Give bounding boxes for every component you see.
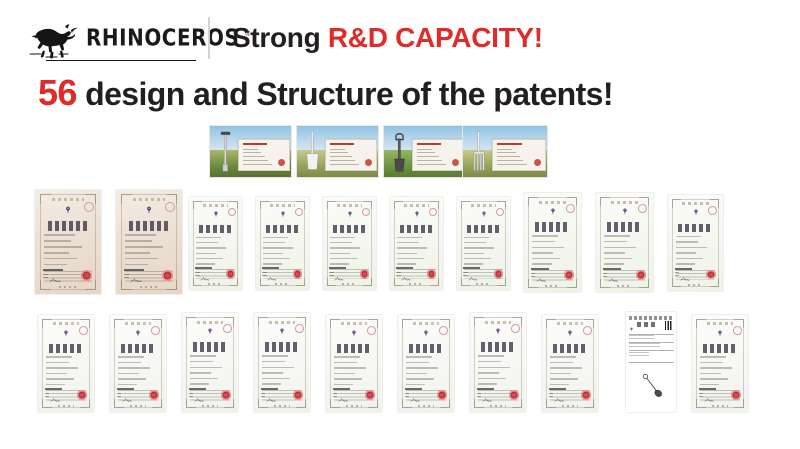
certificate-sign-label: [699, 393, 703, 399]
certificate-number-stamp: [733, 326, 742, 335]
certificate-body: [600, 197, 649, 288]
director-signature: [554, 391, 567, 399]
official-red-seal: [494, 269, 503, 278]
certificate-top-ornament: [269, 321, 296, 324]
director-signature: [122, 391, 135, 399]
certificate-top-ornament: [413, 322, 440, 325]
tool-d-handle-shovel-icon: [389, 130, 410, 174]
patent-office-emblem-icon: [495, 328, 501, 335]
certificate-number-stamp: [708, 206, 717, 215]
photo-certificate-card: [238, 139, 290, 171]
utility-model-patent-certificate-8[interactable]: [668, 195, 723, 291]
invention-patent-certificate-2[interactable]: [116, 190, 182, 294]
certificate-top-ornament: [52, 198, 84, 201]
design-patent-certificate-3[interactable]: [182, 313, 238, 412]
certificate-body: [672, 199, 719, 287]
certificate-sign-label: [261, 393, 265, 399]
official-red-seal: [427, 269, 436, 278]
barcode-icon: [665, 321, 673, 330]
director-signature: [334, 270, 346, 278]
director-signature: [130, 272, 145, 281]
patent-office-emblem-icon: [621, 208, 627, 215]
official-red-seal: [226, 269, 235, 278]
certificate-footer-rule: [262, 267, 278, 269]
certificate-title: [678, 224, 712, 233]
certificate-title: [121, 344, 156, 353]
certificate-body: [528, 197, 577, 288]
certificate-footer-rule: [124, 269, 144, 271]
official-red-seal: [360, 269, 369, 278]
certificate-footer-rule: [195, 267, 211, 269]
certificate-body: [546, 319, 594, 408]
header-divider: [208, 17, 210, 59]
certificate-bottom-ornament: [59, 286, 77, 288]
certificate-footer-rule: [603, 268, 621, 270]
official-red-seal: [293, 390, 303, 400]
certificate-footer-rule: [189, 388, 206, 390]
certificate-footer-rule: [45, 388, 62, 390]
certificate-title: [535, 222, 570, 231]
director-signature: [338, 391, 351, 399]
certificate-sign-label: [43, 274, 48, 281]
certificate-body: [461, 201, 507, 287]
certificate-bottom-ornament: [418, 405, 433, 407]
headline-primary-accent: R&D CAPACITY!: [328, 22, 543, 53]
photo-certificate-card: [492, 139, 546, 171]
certificate-body: [402, 319, 450, 408]
certificate-top-ornament: [203, 204, 229, 207]
patent-showcase-page: RHINOCEROS ® Strong R&D CAPACITY! 56 des…: [0, 0, 800, 449]
certificate-number-stamp: [429, 208, 437, 216]
certificate-body: [40, 194, 97, 290]
certificate-top-ornament: [53, 322, 80, 325]
certificate-title: [467, 225, 500, 234]
certificate-number-stamp: [165, 202, 175, 212]
certificate-sign-label: [195, 272, 199, 278]
certificate-top-ornament: [197, 321, 224, 324]
design-patent-certificate-7[interactable]: [470, 313, 526, 412]
certificate-title: [129, 221, 170, 231]
certificate-top-ornament: [682, 202, 708, 205]
certificate-bottom-ornament: [58, 405, 73, 407]
patent-office-emblem-icon: [279, 328, 285, 335]
certificate-bottom-ornament: [545, 285, 561, 287]
certificate-sign-label: [45, 393, 49, 399]
patent-office-emblem-icon: [64, 206, 71, 215]
certificate-body: [42, 319, 90, 408]
photo-garden-fork-certificate[interactable]: [462, 125, 548, 178]
certificate-footer-rule: [675, 268, 692, 270]
design-patent-certificate-1[interactable]: [38, 315, 94, 412]
certificate-number-stamp: [439, 326, 448, 335]
certificate-top-ornament: [557, 322, 584, 325]
director-signature: [266, 391, 279, 399]
official-red-seal: [731, 390, 741, 400]
certificate-bottom-ornament: [275, 283, 290, 285]
certificate-number-stamp: [638, 204, 647, 213]
certificate-bottom-ornament: [274, 405, 289, 407]
brand-logo: RHINOCEROS ®: [28, 17, 203, 61]
design-patent-certificate-8[interactable]: [542, 315, 598, 412]
certificate-sign-label: [262, 272, 266, 278]
patent-office-emblem-icon: [145, 206, 152, 215]
tool-post-hole-digger-icon: [215, 130, 236, 174]
certificate-body: [114, 319, 162, 408]
rhinoceros-logo-icon: [28, 19, 84, 59]
utility-model-patent-certificate-1[interactable]: [189, 197, 242, 290]
director-signature: [482, 391, 495, 399]
certificate-number-stamp: [295, 324, 304, 333]
official-red-seal: [437, 390, 447, 400]
certificate-title: [48, 221, 89, 231]
official-red-seal: [365, 390, 375, 400]
certificate-body: [186, 317, 234, 408]
design-patent-certificate-2[interactable]: [110, 315, 166, 412]
certificate-body: [193, 201, 239, 287]
patent-office-emblem-icon: [481, 211, 487, 218]
patent-office-emblem-icon: [63, 330, 69, 337]
certificate-bottom-ornament: [712, 405, 727, 407]
certificate-number-stamp: [84, 202, 94, 212]
certificate-number-stamp: [511, 324, 520, 333]
certificate-bottom-ornament: [208, 283, 223, 285]
certificate-title: [333, 225, 366, 234]
certificate-sign-label: [463, 272, 467, 278]
certificate-footer-rule: [531, 268, 549, 270]
director-signature: [608, 271, 621, 279]
certificate-number-stamp: [295, 208, 303, 216]
certificate-top-ornament: [539, 201, 566, 204]
utility-model-patent-certificate-3[interactable]: [323, 197, 376, 290]
certificate-title: [266, 225, 299, 234]
utility-model-patent-certificate-5[interactable]: [457, 197, 510, 290]
certificate-title: [703, 344, 738, 353]
official-red-seal: [77, 390, 87, 400]
certificate-number-stamp: [583, 326, 592, 335]
photo-certificate-card: [325, 139, 377, 171]
invention-patent-certificate-1[interactable]: [35, 190, 101, 294]
certificate-bottom-ornament: [617, 285, 633, 287]
certificate-title: [193, 342, 228, 351]
patent-office-emblem-icon: [351, 330, 357, 337]
design-patent-drawing-sheet[interactable]: [626, 312, 676, 412]
certificate-sign-label: [333, 393, 337, 399]
director-signature: [49, 272, 64, 281]
certificate-top-ornament: [611, 201, 638, 204]
design-patent-certificate-4[interactable]: [254, 313, 310, 412]
headline-secondary-text: design and Structure of the patents!: [77, 76, 613, 112]
certificate-title: [481, 342, 516, 351]
patent-office-emblem-icon: [280, 211, 286, 218]
headline-secondary: 56 design and Structure of the patents!: [38, 72, 613, 115]
certificate-footer-rule: [43, 269, 63, 271]
certificate-sign-label: [603, 273, 607, 279]
certificate-number-stamp: [79, 326, 88, 335]
design-patent-certificate-6[interactable]: [398, 315, 454, 412]
certificate-title: [265, 342, 300, 351]
director-signature: [200, 270, 212, 278]
design-drawing-shovel-icon: [641, 367, 663, 405]
patent-office-emblem-icon: [347, 211, 353, 218]
certificate-top-ornament: [337, 204, 363, 207]
brand-wordmark: RHINOCEROS ®: [86, 29, 250, 50]
official-red-seal: [706, 270, 715, 279]
certificate-number-stamp: [223, 324, 232, 333]
certificate-sign-label: [531, 273, 535, 279]
certificate-footer-rule: [477, 388, 494, 390]
page-header: RHINOCEROS ® Strong R&D CAPACITY!: [0, 0, 800, 68]
patent-office-emblem-icon: [135, 330, 141, 337]
utility-model-patent-certificate-7[interactable]: [596, 193, 653, 292]
patent-office-emblem-icon: [717, 330, 723, 337]
official-red-seal: [564, 270, 574, 280]
photo-post-hole-digger-certificate[interactable]: [209, 125, 292, 178]
director-signature: [401, 270, 413, 278]
certificate-sign-label: [189, 393, 193, 399]
certificate-top-ornament: [404, 204, 430, 207]
utility-model-patent-certificate-4[interactable]: [390, 197, 443, 290]
certificate-top-ornament: [125, 322, 152, 325]
certificate-title: [49, 344, 84, 353]
director-signature: [50, 391, 63, 399]
headline-primary: Strong R&D CAPACITY!: [232, 20, 543, 56]
certificate-title: [553, 344, 588, 353]
certificate-footer-rule: [463, 267, 479, 269]
official-red-seal: [636, 270, 646, 280]
official-red-seal: [293, 269, 302, 278]
official-red-seal: [221, 390, 231, 400]
certificate-bottom-ornament: [409, 283, 424, 285]
tool-garden-fork-icon: [468, 130, 490, 174]
certificate-sign-label: [675, 272, 679, 278]
patent-office-emblem-icon: [207, 328, 213, 335]
director-signature: [680, 270, 692, 278]
certificate-top-ornament: [707, 322, 734, 325]
certificate-top-ornament: [270, 204, 296, 207]
certificate-sign-label: [549, 393, 553, 399]
director-signature: [267, 270, 279, 278]
certificate-bottom-ornament: [476, 283, 491, 285]
certificate-footer-rule: [405, 388, 422, 390]
utility-model-patent-certificate-6[interactable]: [524, 193, 581, 292]
photo-d-handle-shovel-certificate[interactable]: [383, 125, 466, 178]
photo-certificate-card: [412, 139, 464, 171]
certificate-title: [199, 225, 232, 234]
certificate-bottom-ornament: [130, 405, 145, 407]
certificate-sign-label: [117, 393, 121, 399]
photo-spade-certificate[interactable]: [296, 125, 379, 178]
certificate-bottom-ornament: [490, 405, 505, 407]
certificate-bottom-ornament: [140, 286, 158, 288]
drawing-header-text: [629, 316, 674, 320]
director-signature: [704, 391, 717, 399]
certificate-sign-label: [477, 393, 481, 399]
director-signature: [194, 391, 207, 399]
certificate-footer-rule: [396, 267, 412, 269]
logo-underline-rule: [46, 60, 196, 61]
certificate-sign-label: [124, 274, 129, 281]
certificate-title: [400, 225, 433, 234]
official-red-seal: [581, 390, 591, 400]
design-patent-certificate-5[interactable]: [326, 315, 382, 412]
patent-office-emblem-icon: [549, 208, 555, 215]
certificate-footer-rule: [329, 267, 345, 269]
certificate-bottom-ornament: [202, 405, 217, 407]
certificate-top-ornament: [341, 322, 368, 325]
certificate-body: [330, 319, 378, 408]
certificate-footer-rule: [549, 388, 566, 390]
director-signature: [410, 391, 423, 399]
certificate-footer-rule: [261, 388, 278, 390]
certificate-title: [607, 222, 642, 231]
patent-office-emblem-icon: [567, 330, 573, 337]
certificate-sign-label: [396, 272, 400, 278]
headline-primary-lead: Strong: [232, 22, 328, 53]
design-patent-certificate-9[interactable]: [692, 315, 748, 412]
patent-office-emblem-icon: [213, 211, 219, 218]
utility-model-patent-certificate-2[interactable]: [256, 197, 309, 290]
tool-spade-icon: [302, 130, 323, 174]
certificate-number-stamp: [566, 204, 575, 213]
official-red-seal: [149, 390, 159, 400]
certificate-number-stamp: [496, 208, 504, 216]
certificate-number-stamp: [228, 208, 236, 216]
certificate-number-stamp: [151, 326, 160, 335]
certificate-body: [696, 319, 744, 408]
certificate-body: [474, 317, 522, 408]
certificate-title: [409, 344, 444, 353]
certificate-top-ornament: [133, 198, 165, 201]
certificate-body: [121, 194, 178, 290]
director-signature: [468, 270, 480, 278]
certificate-footer-rule: [117, 388, 134, 390]
certificate-sign-label: [329, 272, 333, 278]
certificate-number-stamp: [367, 326, 376, 335]
certificate-bottom-ornament: [346, 405, 361, 407]
certificate-bottom-ornament: [562, 405, 577, 407]
patent-office-emblem-icon: [423, 330, 429, 337]
certificate-footer-rule: [333, 388, 350, 390]
drawing-title: [637, 322, 657, 327]
certificate-bottom-ornament: [688, 284, 703, 286]
director-signature: [536, 271, 549, 279]
brand-name: RHINOCEROS: [86, 26, 239, 49]
certificate-title: [337, 344, 372, 353]
certificate-sign-label: [405, 393, 409, 399]
patent-count: 56: [38, 72, 77, 113]
certificate-bottom-ornament: [342, 283, 357, 285]
official-red-seal: [509, 390, 519, 400]
certificate-body: [394, 201, 440, 287]
certificate-body: [258, 317, 306, 408]
certificate-body: [327, 201, 373, 287]
certificate-body: [260, 201, 306, 287]
certificate-number-stamp: [362, 208, 370, 216]
patent-office-emblem-icon: [629, 321, 634, 330]
certificate-footer-rule: [699, 388, 716, 390]
certificate-top-ornament: [485, 321, 512, 324]
patent-office-emblem-icon: [692, 209, 698, 216]
patent-office-emblem-icon: [414, 211, 420, 218]
certificate-top-ornament: [471, 204, 497, 207]
